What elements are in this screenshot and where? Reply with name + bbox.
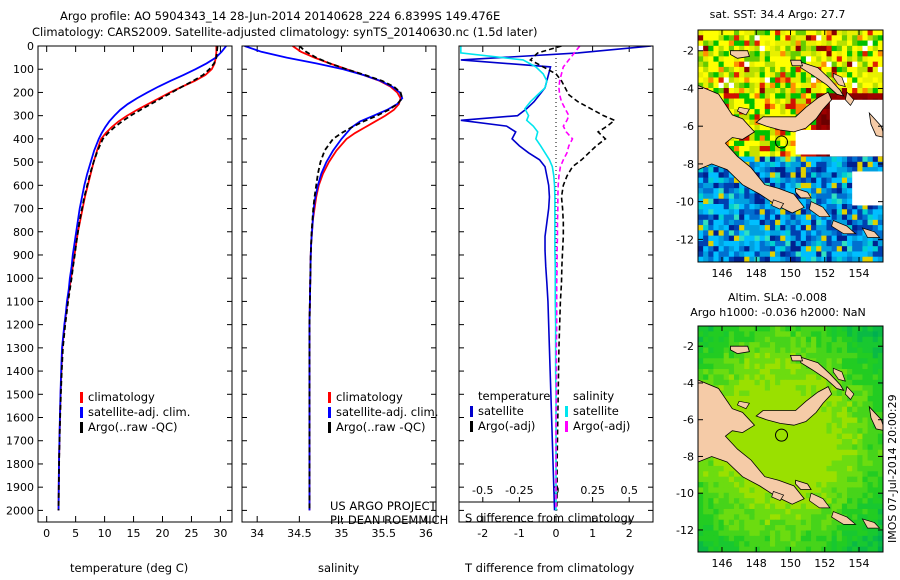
difference-axis-label-top: S difference from climatology [465,511,635,525]
svg-text:1200: 1200 [6,319,34,332]
legend-swatch-argo-raw [80,422,83,433]
legend-label: Argo(..raw -QC) [88,420,178,435]
svg-text:0: 0 [27,40,34,53]
legend-swatch-satellite-adj [80,407,83,418]
svg-text:900: 900 [13,249,34,262]
svg-text:35.5: 35.5 [371,527,396,540]
legend-item: satellite [565,404,660,419]
sla-map-title-line2: Argo h1000: -0.036 h2000: NaN [662,306,894,319]
svg-text:150: 150 [780,267,801,280]
svg-text:-10: -10 [676,196,694,209]
imos-timestamp: IMOS 07-Jul-2014 20:00:29 [886,394,899,543]
legend-item: Argo(..raw -QC) [80,420,190,435]
page-title-line2: Climatology: CARS2009. Satellite-adjuste… [32,25,538,39]
legend-swatch-climatology [328,392,331,403]
legend-title-salinity: salinity [573,389,614,404]
svg-text:200: 200 [13,86,34,99]
temperature-plot[interactable]: 0100200300400500600700800900100011001200… [0,40,240,580]
svg-text:-0.25: -0.25 [505,484,533,497]
sst-map-title: sat. SST: 34.4 Argo: 27.7 [670,8,885,21]
svg-text:15: 15 [127,527,141,540]
svg-text:2000: 2000 [6,504,34,517]
temperature-legend: climatology satellite-adj. clim. Argo(..… [80,390,190,435]
sst-map[interactable]: 146148150152154-2-4-6-8-10-12 [660,24,900,289]
svg-text:1100: 1100 [6,295,34,308]
svg-text:-6: -6 [683,120,694,133]
legend-item: Argo(-adj) [565,419,660,434]
legend-swatch-climatology [80,392,83,403]
difference-axis-label-bottom: T difference from climatology [465,561,634,575]
legend-label: satellite [573,404,619,419]
svg-text:0: 0 [553,527,560,540]
legend-swatch-temp-satellite [470,406,473,417]
legend-item: satellite-adj. clim. [328,405,438,420]
legend-item: satellite [470,404,565,419]
svg-text:100: 100 [13,63,34,76]
legend-label: climatology [88,390,155,405]
svg-text:36: 36 [419,527,433,540]
svg-text:1800: 1800 [6,458,34,471]
svg-text:148: 148 [746,557,767,570]
legend-label: Argo(-adj) [573,419,630,434]
svg-text:-6: -6 [683,414,694,427]
temperature-axis-label: temperature (deg C) [70,561,188,575]
difference-legend: temperature satellite Argo(-adj) salinit… [470,389,660,434]
svg-text:20: 20 [156,527,170,540]
svg-text:152: 152 [814,557,835,570]
svg-text:0.25: 0.25 [580,484,605,497]
legend-group-title: temperature [470,389,565,404]
svg-text:34: 34 [250,527,264,540]
svg-text:-0.5: -0.5 [472,484,493,497]
svg-text:154: 154 [849,557,870,570]
svg-text:146: 146 [711,267,732,280]
svg-text:300: 300 [13,110,34,123]
svg-text:0: 0 [43,527,50,540]
svg-text:-4: -4 [683,377,694,390]
legend-title-temperature: temperature [478,389,550,404]
svg-text:-12: -12 [676,233,694,246]
legend-label: Argo(-adj) [478,419,535,434]
svg-text:0.5: 0.5 [620,484,638,497]
svg-text:-2: -2 [477,527,488,540]
legend-swatch-argo-raw [328,422,331,433]
legend-label: Argo(..raw -QC) [336,420,426,435]
legend-group-title: salinity [565,389,660,404]
legend-label: satellite-adj. clim. [336,405,438,420]
svg-text:154: 154 [849,267,870,280]
legend-swatch-sal-argo [565,421,568,432]
svg-text:1: 1 [589,527,596,540]
legend-label: climatology [336,390,403,405]
svg-text:1300: 1300 [6,342,34,355]
legend-swatch-satellite-adj [328,407,331,418]
svg-text:-12: -12 [676,524,694,537]
difference-plot[interactable]: -2-1012-0.5-0.2500.250.5 [445,40,663,580]
salinity-legend: climatology satellite-adj. clim. Argo(..… [328,390,438,435]
svg-text:-1: -1 [514,527,525,540]
svg-text:-2: -2 [683,340,694,353]
legend-label: satellite [478,404,524,419]
legend-item: satellite-adj. clim. [80,405,190,420]
svg-text:1900: 1900 [6,481,34,494]
project-label: US ARGO PROJECT [330,499,437,513]
svg-text:10: 10 [98,527,112,540]
legend-item: Argo(-adj) [470,419,565,434]
legend-swatch-sal-satellite [565,406,568,417]
legend-item: Argo(..raw -QC) [328,420,438,435]
legend-item: climatology [328,390,438,405]
svg-text:34.5: 34.5 [287,527,312,540]
svg-text:800: 800 [13,226,34,239]
difference-panel: -2-1012-0.5-0.2500.250.5 [445,40,663,580]
temperature-panel: 0100200300400500600700800900100011001200… [0,40,240,580]
legend-item: climatology [80,390,190,405]
svg-text:146: 146 [711,557,732,570]
svg-text:1600: 1600 [6,412,34,425]
svg-text:1400: 1400 [6,365,34,378]
svg-text:-4: -4 [683,82,694,95]
sla-map-title-line1: Altim. SLA: -0.008 [670,291,885,304]
legend-swatch-temp-argo [470,421,473,432]
svg-text:25: 25 [184,527,198,540]
svg-text:148: 148 [746,267,767,280]
svg-text:-8: -8 [683,158,694,171]
svg-text:2: 2 [626,527,633,540]
svg-text:150: 150 [780,557,801,570]
pi-label: PI: DEAN ROEMMICH [330,513,448,527]
svg-text:5: 5 [72,527,79,540]
svg-text:30: 30 [213,527,227,540]
svg-text:-8: -8 [683,450,694,463]
svg-text:-2: -2 [683,45,694,58]
svg-text:400: 400 [13,133,34,146]
svg-text:1500: 1500 [6,388,34,401]
page-title-line1: Argo profile: AO 5904343_14 28-Jun-2014 … [60,9,500,23]
svg-text:35: 35 [335,527,349,540]
salinity-axis-label: salinity [318,561,359,575]
svg-text:500: 500 [13,156,34,169]
svg-text:600: 600 [13,179,34,192]
svg-text:1000: 1000 [6,272,34,285]
svg-text:-10: -10 [676,487,694,500]
svg-text:152: 152 [814,267,835,280]
sla-map[interactable]: 146148150152154-2-4-6-8-10-12 [660,320,900,580]
svg-text:1700: 1700 [6,435,34,448]
svg-text:700: 700 [13,203,34,216]
legend-label: satellite-adj. clim. [88,405,190,420]
